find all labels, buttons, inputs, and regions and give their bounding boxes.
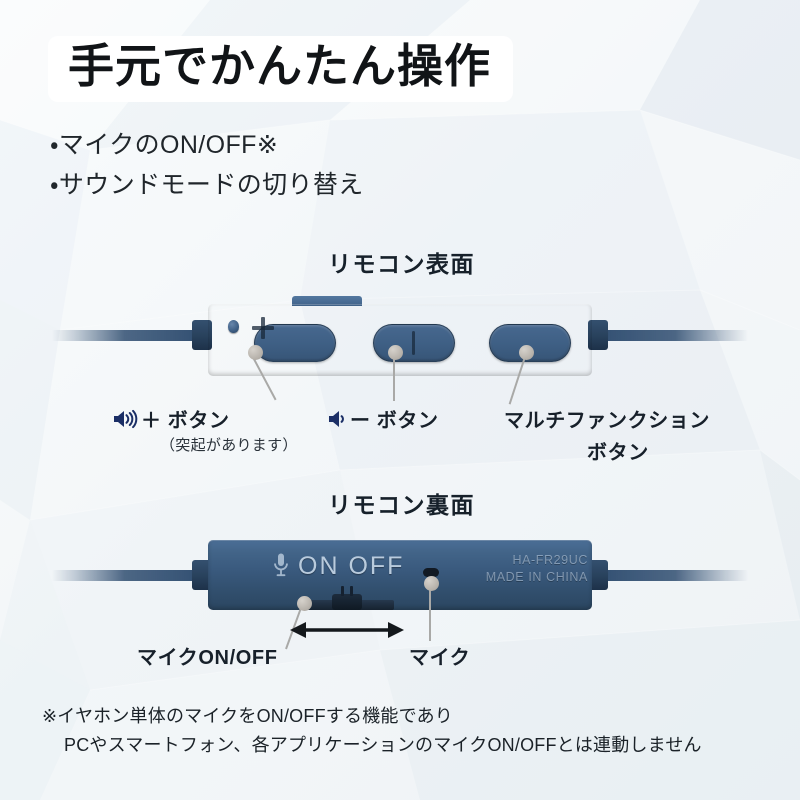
callout-dot-multifunction xyxy=(519,345,534,360)
callout-text-volume-up: ＋ ボタン xyxy=(141,410,230,432)
speaker-high-icon xyxy=(112,408,138,430)
model-number: HA-FR29UC xyxy=(486,552,588,569)
list-item: ・サウンドモードの切り替え xyxy=(50,166,364,206)
leader-line-mic xyxy=(429,589,431,641)
engraved-text: HA-FR29UC MADE IN CHINA xyxy=(486,552,588,586)
footnote: ※イヤホン単体のマイクをON/OFFする機能であり PCやスマートフォン、各アプ… xyxy=(42,702,702,760)
slider-direction-arrow xyxy=(288,620,406,640)
onoff-label: ON OFF xyxy=(298,552,404,581)
callout-label-volume-down: ー ボタン xyxy=(327,404,439,433)
callout-sub-volume-up: （突起があります） xyxy=(160,434,298,455)
plus-icon xyxy=(252,317,274,339)
footnote-line-2: PCやスマートフォン、各アプリケーションのマイクON/OFFとは連動しません xyxy=(42,731,702,760)
callout-text-volume-down: ー ボタン xyxy=(350,410,439,432)
section-heading-front: リモコン表面 xyxy=(328,245,475,279)
tactile-nub-icon xyxy=(228,320,239,333)
callout-label-volume-up: ＋ ボタン xyxy=(112,404,230,433)
cable-left xyxy=(52,330,210,341)
callout-label-multifunction-line2: ボタン xyxy=(587,436,649,465)
background-pattern xyxy=(0,0,800,800)
list-item: ・マイクのON/OFF※ xyxy=(50,126,364,166)
minus-icon xyxy=(412,331,415,355)
callout-label-multifunction: マルチファンクション xyxy=(504,404,710,433)
leader-line-volume-down xyxy=(393,357,395,401)
callout-dot-mic xyxy=(424,576,439,591)
callout-dot-volume-up xyxy=(248,345,263,360)
speaker-low-icon xyxy=(327,408,347,430)
cable-right xyxy=(590,330,748,341)
page-title: 手元でかんたん操作 xyxy=(68,42,491,92)
callout-dot-volume-down xyxy=(388,345,403,360)
callout-label-mic: マイク xyxy=(409,641,470,670)
page-title-badge: 手元でかんたん操作 xyxy=(48,36,513,102)
feature-list: ・マイクのON/OFF※ ・サウンドモードの切り替え xyxy=(50,126,364,205)
remote-front-illustration xyxy=(0,296,800,388)
infographic-canvas: 手元でかんたん操作 ・マイクのON/OFF※ ・サウンドモードの切り替え リモコ… xyxy=(0,0,800,800)
callout-label-mic-onoff: マイクON/OFF xyxy=(137,641,278,670)
cable-left-back xyxy=(52,570,210,581)
microphone-icon xyxy=(272,552,290,578)
origin-label: MADE IN CHINA xyxy=(486,569,588,586)
slider-knob[interactable] xyxy=(332,594,362,610)
section-heading-back: リモコン裏面 xyxy=(328,486,475,520)
remote-front-body xyxy=(208,304,592,376)
mic-onoff-slider[interactable] xyxy=(302,594,394,610)
cable-right-back xyxy=(590,570,748,581)
callout-dot-mic-onoff xyxy=(297,596,312,611)
footnote-line-1: ※イヤホン単体のマイクをON/OFFする機能であり xyxy=(42,702,702,731)
